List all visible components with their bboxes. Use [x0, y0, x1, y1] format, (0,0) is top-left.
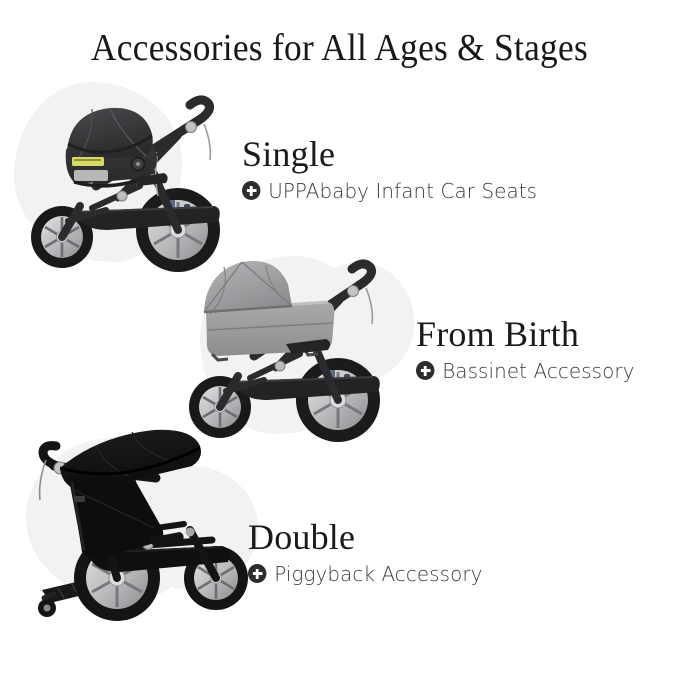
accessory-row-single: UPPAbaby Infant Car Seats — [242, 179, 537, 203]
accessories-infographic: Accessories for All Ages & Stages — [0, 0, 679, 679]
accessory-label-double: Piggyback Accessory — [274, 562, 482, 586]
label-block-single: Single UPPAbaby Infant Car Seats — [242, 136, 546, 203]
handle-hinge-birth — [348, 286, 359, 297]
accessory-row-double: Piggyback Accessory — [248, 562, 483, 586]
plus-circle-icon — [242, 181, 260, 200]
bassinet-birth — [204, 261, 334, 360]
strap-single — [204, 124, 210, 160]
product-image-double — [24, 420, 282, 642]
category-title-double: Double — [248, 519, 490, 557]
handle-hinge-single — [186, 122, 197, 133]
category-title-single: Single — [242, 136, 546, 174]
category-title-from-birth: From Birth — [416, 316, 641, 354]
accessory-label-from-birth: Bassinet Accessory — [442, 359, 634, 383]
plus-circle-icon — [416, 361, 434, 380]
seat-canopy-double — [60, 430, 201, 559]
plus-circle-icon — [248, 564, 266, 583]
label-block-from-birth: From Birth Bassinet Accessory — [416, 316, 641, 383]
accessory-label-single: UPPAbaby Infant Car Seats — [268, 179, 537, 203]
accessory-row-from-birth: Bassinet Accessory — [416, 359, 635, 383]
strap-double — [40, 460, 46, 500]
page-title: Accessories for All Ages & Stages — [24, 26, 655, 70]
strap-birth — [366, 288, 372, 324]
label-block-double: Double Piggyback Accessory — [248, 519, 490, 586]
